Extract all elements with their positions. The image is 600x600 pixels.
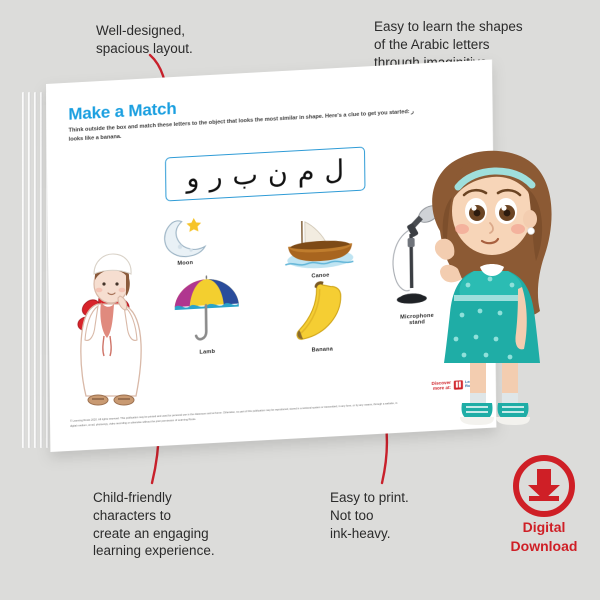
badge-line-2: Download — [496, 539, 592, 555]
moon-icon — [158, 215, 213, 260]
download-arrow-icon — [513, 455, 575, 517]
arabic-letter: ب — [227, 161, 263, 190]
arabic-letter: و — [181, 164, 204, 192]
illustration-label: Banana — [287, 345, 357, 355]
callout-well-designed: Well-designed, spacious layout. — [96, 22, 193, 58]
character-boy-in-thobe — [68, 248, 160, 413]
girl-illustration — [418, 145, 600, 455]
callout-easy-to-print: Easy to print. Not too ink-heavy. — [330, 489, 409, 542]
illustration-umbrella: Lamb — [166, 271, 247, 357]
boy-illustration — [68, 248, 160, 413]
umbrella-icon — [171, 271, 242, 349]
illustration-banana: Banana — [287, 279, 358, 355]
arabic-letters-box: ل م ن ب ر و — [165, 147, 366, 202]
arabic-letter: ن — [263, 159, 293, 188]
digital-download-badge: Digital Download — [496, 455, 592, 554]
callout-child-friendly: Child-friendly characters to create an e… — [93, 489, 215, 560]
banana-icon — [293, 279, 352, 346]
badge-line-1: Digital — [496, 520, 592, 536]
arabic-letter: م — [293, 158, 320, 186]
illustration-moon: Moon — [153, 215, 218, 269]
canoe-icon — [283, 213, 358, 273]
illustration-canoe: Canoe — [280, 213, 361, 281]
illustration-label: Moon — [153, 259, 217, 269]
product-mockup-canvas: Well-designed, spacious layout. Easy to … — [0, 0, 600, 600]
arabic-letter: ل — [319, 156, 349, 185]
arabic-letter: ر — [204, 163, 227, 191]
character-girl-thinking — [418, 145, 600, 455]
